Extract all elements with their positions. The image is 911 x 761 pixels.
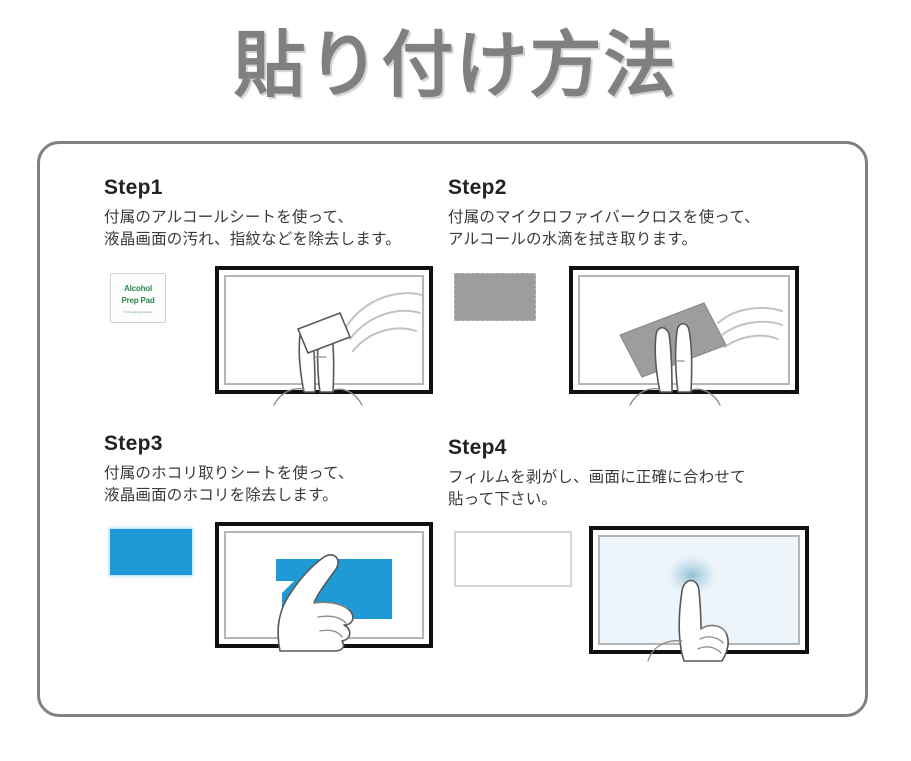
screen-illustration-step4 xyxy=(588,525,810,661)
screen-illustration-step1 xyxy=(214,265,434,405)
page-title: 貼り付け方法 xyxy=(0,26,911,107)
step-1-title: Step1 xyxy=(104,176,464,200)
step-1-block: Step1 付属のアルコールシートを使って、 液晶画面の汚れ、指紋などを除去しま… xyxy=(104,176,464,438)
step-2-title: Step2 xyxy=(448,176,833,200)
step-1-illustration: Alcohol Prep Pad 70 % isopropyl alcohol xyxy=(104,265,464,425)
step-1-description: 付属のアルコールシートを使って、 液晶画面の汚れ、指紋などを除去します。 xyxy=(104,207,464,251)
alcohol-pad-line1: Alcohol xyxy=(124,283,152,295)
step-3-description: 付属のホコリ取りシートを使って、 液晶画面のホコリを除去します。 xyxy=(104,463,464,507)
microfiber-cloth-icon xyxy=(454,273,536,321)
step-3-title: Step3 xyxy=(104,432,464,456)
instruction-card: Step1 付属のアルコールシートを使って、 液晶画面の汚れ、指紋などを除去しま… xyxy=(37,141,868,717)
step-4-title: Step4 xyxy=(448,436,833,460)
alcohol-pad-line3: 70 % isopropyl alcohol xyxy=(123,310,152,314)
alcohol-prep-pad-icon: Alcohol Prep Pad 70 % isopropyl alcohol xyxy=(110,273,166,323)
step-3-block: Step3 付属のホコリ取りシートを使って、 液晶画面のホコリを除去します。 xyxy=(104,432,464,694)
step-4-description: フィルムを剥がし、画面に正確に合わせて 貼って下さい。 xyxy=(448,467,833,511)
step-2-description: 付属のマイクロファイバークロスを使って、 アルコールの水滴を拭き取ります。 xyxy=(448,207,833,251)
step-3-illustration xyxy=(104,521,464,681)
step-4-block: Step4 フィルムを剥がし、画面に正確に合わせて 貼って下さい。 xyxy=(448,436,833,698)
protective-film-icon xyxy=(454,531,572,587)
alcohol-pad-line2: Prep Pad xyxy=(121,295,154,307)
screen-illustration-step3 xyxy=(214,521,434,651)
step-4-illustration xyxy=(448,525,833,685)
dust-removal-sticker-icon xyxy=(110,529,192,575)
step-2-block: Step2 付属のマイクロファイバークロスを使って、 アルコールの水滴を拭き取り… xyxy=(448,176,833,438)
step-2-illustration xyxy=(448,265,833,425)
screen-illustration-step2 xyxy=(568,265,800,405)
